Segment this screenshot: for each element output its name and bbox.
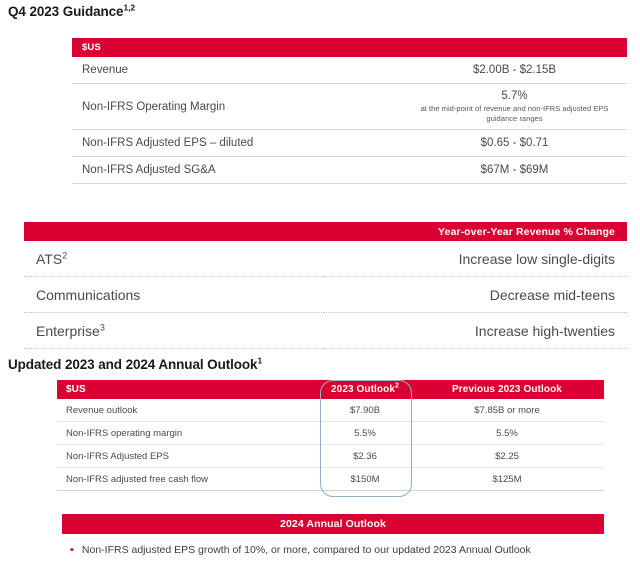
- yoy-row-label-text: ATS: [36, 251, 62, 267]
- outlook-header-2023-text: 2023 Outlook: [331, 384, 395, 395]
- table-row: Communications Decrease mid-teens: [24, 277, 627, 313]
- outlook-row-2023: $150M: [320, 468, 410, 491]
- yoy-header-row: Year-over-Year Revenue % Change: [24, 222, 627, 241]
- table-row: Enterprise3 Increase high-twenties: [24, 313, 627, 349]
- q4-row-value: $2.00B - $2.15B: [402, 57, 627, 84]
- outlook-row-2023: 5.5%: [320, 422, 410, 445]
- q4-row-note: at the mid-point of revenue and non-IFRS…: [402, 104, 627, 123]
- bullet-marker-icon: ▪: [70, 543, 74, 557]
- page-title-q4-guidance-footnote: 1,2: [123, 3, 135, 13]
- yoy-row-label: Enterprise3: [24, 313, 324, 349]
- q4-row-label: Revenue: [72, 57, 402, 84]
- yoy-row-value: Increase low single-digits: [324, 241, 627, 277]
- outlook-header-row: $US 2023 Outlook2 Previous 2023 Outlook: [57, 380, 604, 399]
- q4-guidance-table: $US Revenue $2.00B - $2.15B Non-IFRS Ope…: [72, 38, 627, 184]
- outlook-header-2023: 2023 Outlook2: [320, 380, 410, 399]
- outlook-header-previous: Previous 2023 Outlook: [410, 380, 604, 399]
- outlook-row-2023: $2.36: [320, 445, 410, 468]
- outlook-row-label: Revenue outlook: [57, 399, 320, 422]
- outlook-row-label: Non-IFRS Adjusted EPS: [57, 445, 320, 468]
- table-row: Non-IFRS adjusted free cash flow $150M $…: [57, 468, 604, 491]
- q4-row-value: 5.7%: [402, 90, 627, 102]
- table-row: Non-IFRS Adjusted EPS – diluted $0.65 - …: [72, 130, 627, 157]
- table-row: ATS2 Increase low single-digits: [24, 241, 627, 277]
- yoy-row-label-text: Communications: [36, 287, 140, 303]
- yoy-row-label-text: Enterprise: [36, 323, 100, 339]
- bullet-2024-text: Non-IFRS adjusted EPS growth of 10%, or …: [82, 543, 531, 557]
- yoy-row-value: Increase high-twenties: [324, 313, 627, 349]
- q4-row-label: Non-IFRS Adjusted EPS – diluted: [72, 130, 402, 157]
- yoy-revenue-change-table: Year-over-Year Revenue % Change ATS2 Inc…: [24, 222, 627, 349]
- page-title-updated-outlook: Updated 2023 and 2024 Annual Outlook1: [8, 357, 262, 372]
- outlook-row-2023: $7.90B: [320, 399, 410, 422]
- table-row: Revenue $2.00B - $2.15B: [72, 57, 627, 84]
- page-title-updated-outlook-footnote: 1: [257, 356, 262, 366]
- outlook-row-previous: $2.25: [410, 445, 604, 468]
- table-row: Non-IFRS Operating Margin 5.7% at the mi…: [72, 84, 627, 130]
- q4-guidance-header-row: $US: [72, 38, 627, 57]
- page-title-q4-guidance: Q4 2023 Guidance1,2: [8, 4, 135, 19]
- q4-row-label: Non-IFRS Adjusted SG&A: [72, 157, 402, 184]
- page-title-updated-outlook-text: Updated 2023 and 2024 Annual Outlook: [8, 357, 257, 372]
- table-row: Revenue outlook $7.90B $7.85B or more: [57, 399, 604, 422]
- q4-guidance-header-currency: $US: [72, 38, 402, 57]
- page-title-q4-guidance-text: Q4 2023 Guidance: [8, 4, 123, 19]
- outlook-row-previous: 5.5%: [410, 422, 604, 445]
- outlook-header-2023-footnote: 2: [395, 383, 399, 390]
- yoy-header-blank: [24, 222, 324, 241]
- slide-canvas: Q4 2023 Guidance1,2 $US Revenue $2.00B -…: [0, 0, 640, 564]
- table-row: Non-IFRS Adjusted EPS $2.36 $2.25: [57, 445, 604, 468]
- yoy-header-change: Year-over-Year Revenue % Change: [324, 222, 627, 241]
- outlook-header-currency: $US: [57, 380, 320, 399]
- outlook-row-label: Non-IFRS adjusted free cash flow: [57, 468, 320, 491]
- q4-row-value: $0.65 - $0.71: [402, 130, 627, 157]
- banner-2024-annual-outlook-label: 2024 Annual Outlook: [280, 518, 386, 530]
- outlook-row-previous: $7.85B or more: [410, 399, 604, 422]
- table-row: Non-IFRS operating margin 5.5% 5.5%: [57, 422, 604, 445]
- outlook-row-label: Non-IFRS operating margin: [57, 422, 320, 445]
- q4-guidance-header-value: [402, 38, 627, 57]
- yoy-row-label: Communications: [24, 277, 324, 313]
- yoy-row-label-footnote: 2: [62, 250, 67, 260]
- q4-row-value: $67M - $69M: [402, 157, 627, 184]
- q4-row-value-group: 5.7% at the mid-point of revenue and non…: [402, 84, 627, 130]
- table-row: Non-IFRS Adjusted SG&A $67M - $69M: [72, 157, 627, 184]
- q4-row-label: Non-IFRS Operating Margin: [72, 84, 402, 130]
- yoy-row-value: Decrease mid-teens: [324, 277, 627, 313]
- outlook-row-previous: $125M: [410, 468, 604, 491]
- list-item: ▪ Non-IFRS adjusted EPS growth of 10%, o…: [62, 543, 622, 557]
- updated-outlook-table: $US 2023 Outlook2 Previous 2023 Outlook …: [57, 380, 604, 491]
- yoy-row-label-footnote: 3: [100, 322, 105, 332]
- yoy-row-label: ATS2: [24, 241, 324, 277]
- banner-2024-annual-outlook: 2024 Annual Outlook: [62, 514, 604, 534]
